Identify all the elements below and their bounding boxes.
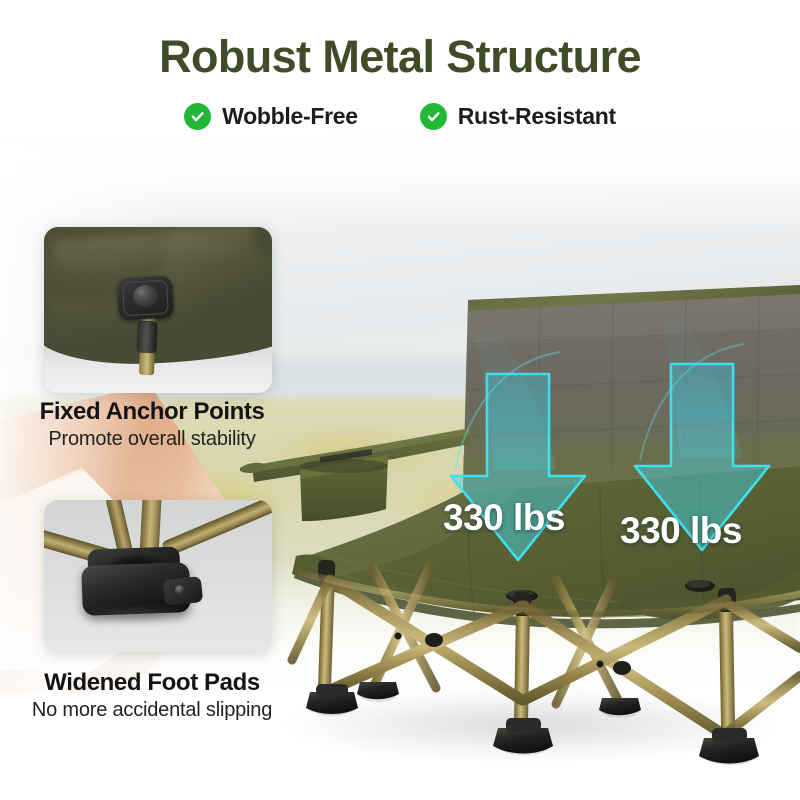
foot-pad-middle	[493, 718, 553, 755]
foot-pad-right	[699, 728, 759, 765]
header: Robust Metal Structure Wobble-Free Rust-…	[0, 0, 800, 130]
anchor-photo-leg-sleeve	[136, 321, 157, 354]
callout-fixed-anchor-points: Fixed Anchor Points Promote overall stab…	[0, 398, 312, 451]
feature-badges: Wobble-Free Rust-Resistant	[0, 103, 800, 130]
page-title: Robust Metal Structure	[0, 0, 800, 79]
badge-wobble-free: Wobble-Free	[184, 103, 358, 130]
callout-title-anchor: Fixed Anchor Points	[0, 398, 312, 426]
badge-label-wobble-free: Wobble-Free	[222, 103, 358, 130]
callout-title-foot: Widened Foot Pads	[0, 669, 312, 697]
foot-pad-rear-middle	[599, 698, 641, 718]
promo-canvas: 330 lbs 330 lbs Fixed Anchor Points Prom…	[0, 0, 800, 800]
foot-pad-front-left	[306, 684, 358, 716]
callout-widened-foot-pads: Widened Foot Pads No more accidental sli…	[0, 669, 312, 722]
weight-label-right: 330 lbs	[620, 510, 742, 552]
weight-label-left: 330 lbs	[443, 497, 565, 539]
feature-photo-widened-foot-pads	[44, 500, 272, 652]
check-circle-icon	[420, 103, 447, 130]
check-circle-icon	[184, 103, 211, 130]
foot-photo-tube-right	[161, 500, 272, 557]
feature-photo-fixed-anchor-points	[44, 227, 272, 393]
foot-pad-shadow	[80, 608, 198, 624]
callout-subtitle-anchor: Promote overall stability	[0, 428, 312, 451]
badge-rust-resistant: Rust-Resistant	[420, 103, 616, 130]
callout-subtitle-foot: No more accidental slipping	[0, 699, 312, 722]
badge-label-rust-resistant: Rust-Resistant	[458, 103, 616, 130]
foot-pad-screw-icon	[175, 585, 185, 595]
chair-backrest	[463, 285, 800, 492]
foot-pad-rear-left	[357, 682, 399, 702]
